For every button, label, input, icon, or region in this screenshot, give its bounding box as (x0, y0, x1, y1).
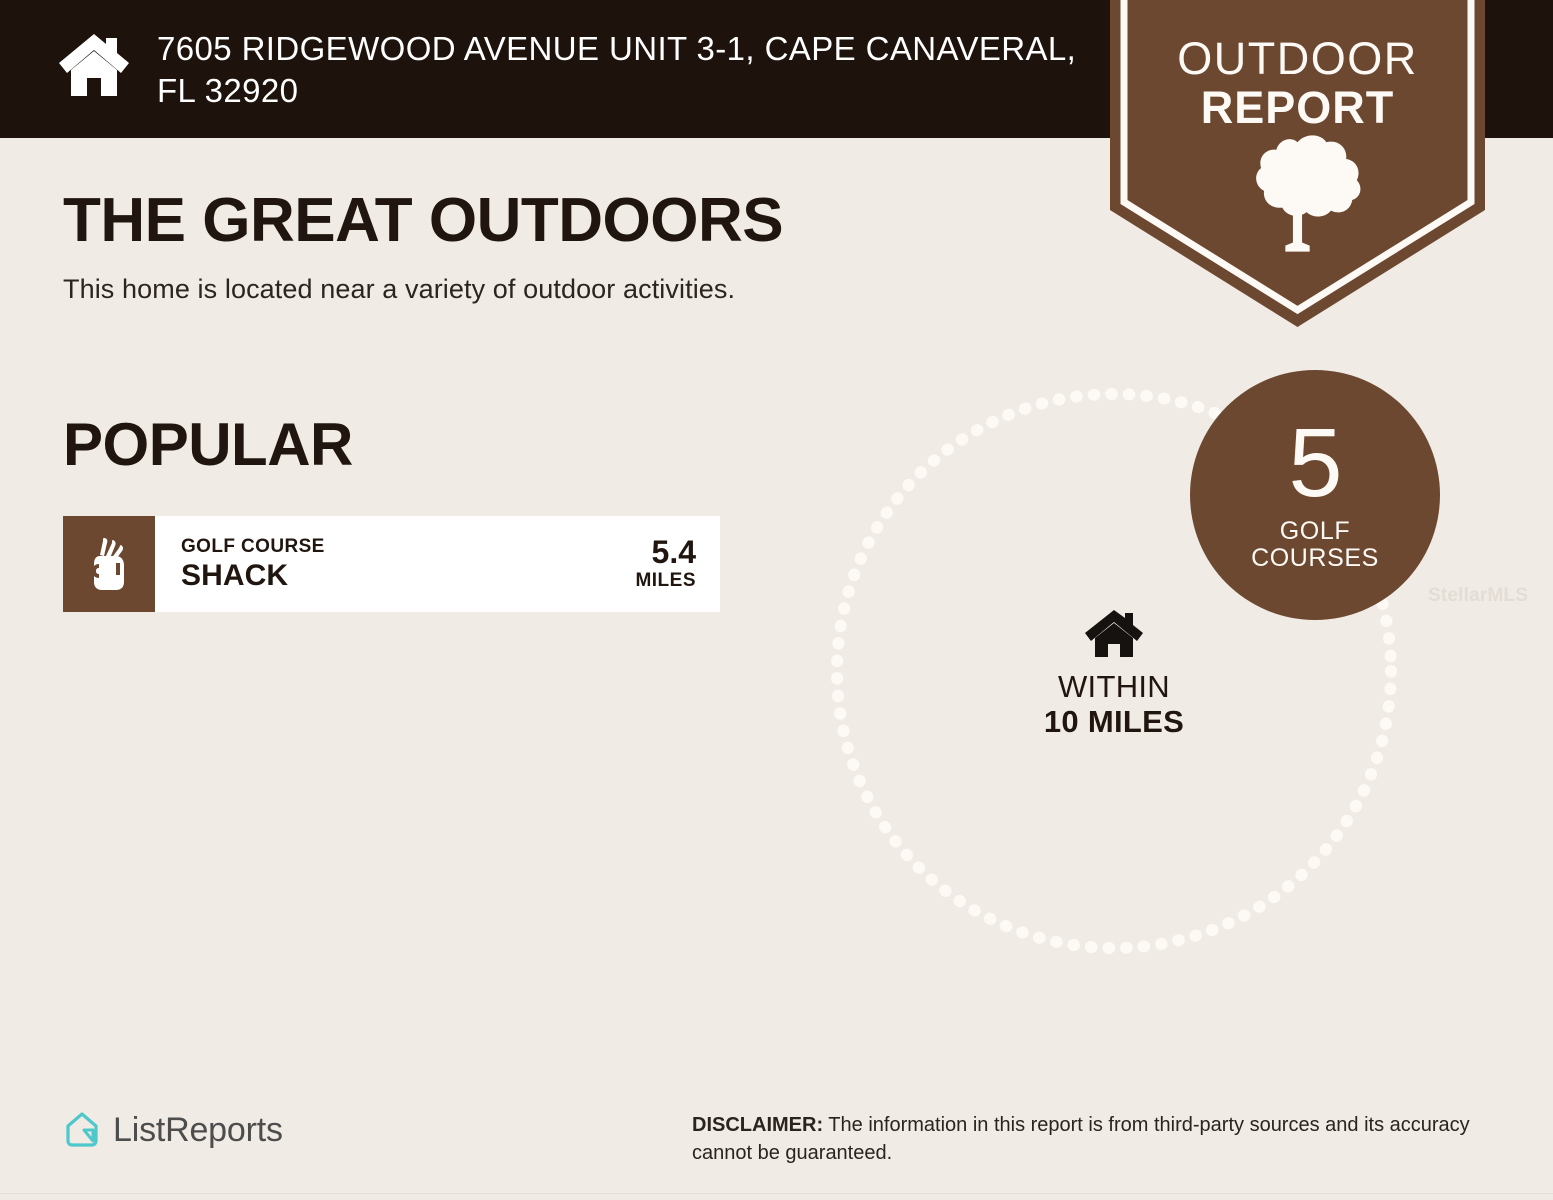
disclaimer-label: DISCLAIMER: (692, 1114, 823, 1136)
page-subtitle: This home is located near a variety of o… (63, 274, 783, 305)
home-icon (57, 30, 131, 98)
outdoor-report-badge: OUTDOOR REPORT (1110, 0, 1485, 327)
center-marker: WITHIN 10 MILES (828, 607, 1400, 739)
count-label-line-2: COURSES (1251, 544, 1379, 572)
count-label-line-1: GOLF (1280, 517, 1350, 545)
listreports-wordmark: ListReports (113, 1111, 283, 1150)
count-label: GOLF COURSES (1251, 518, 1379, 572)
poi-distance-value: 5.4 (635, 536, 696, 570)
header-content: 7605 RIDGEWOOD AVENUE UNIT 3-1, CAPE CAN… (57, 28, 1097, 112)
poi-category: GOLF COURSE (181, 536, 325, 558)
golf-bag-icon (63, 516, 155, 612)
list-item[interactable]: GOLF COURSE SHACK 5.4 MILES (63, 516, 720, 612)
golf-course-count-bubble: 5 GOLF COURSES (1190, 370, 1440, 620)
home-icon (1084, 646, 1144, 663)
within-label: WITHIN (828, 670, 1400, 705)
list-item-labels: GOLF COURSE SHACK (181, 536, 325, 593)
page-title: THE GREAT OUTDOORS (63, 190, 783, 252)
disclaimer: DISCLAIMER: The information in this repo… (692, 1111, 1492, 1168)
poi-distance-unit: MILES (635, 570, 696, 592)
stellarmls-watermark: StellarMLS (1428, 585, 1528, 607)
outdoor-report-page: 7605 RIDGEWOOD AVENUE UNIT 3-1, CAPE CAN… (0, 0, 1553, 1200)
poi-distance: 5.4 MILES (635, 536, 696, 593)
within-distance: 10 MILES (828, 705, 1400, 740)
popular-section-heading: POPULAR (63, 415, 353, 475)
list-item-body: GOLF COURSE SHACK 5.4 MILES (155, 516, 720, 612)
bottom-divider (0, 1193, 1553, 1194)
listreports-house-icon (62, 1110, 102, 1150)
property-address: 7605 RIDGEWOOD AVENUE UNIT 3-1, CAPE CAN… (157, 28, 1097, 112)
poi-name: SHACK (181, 559, 325, 592)
title-block: THE GREAT OUTDOORS This home is located … (63, 190, 783, 305)
listreports-logo[interactable]: ListReports (62, 1110, 283, 1150)
count-value: 5 (1289, 418, 1342, 507)
